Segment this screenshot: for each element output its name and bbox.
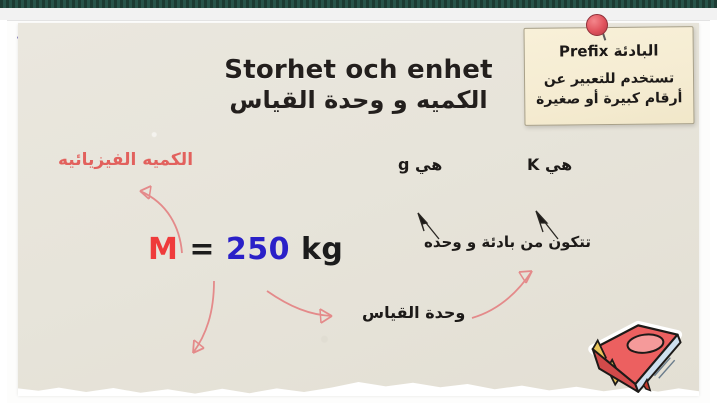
- label-hi-g: هي g: [398, 155, 442, 174]
- window-chrome-strip: [0, 0, 717, 8]
- book-sticker: [580, 318, 690, 396]
- book-icon: [580, 318, 690, 396]
- equation-unit: kg: [301, 232, 343, 267]
- sticky-note-prefix[interactable]: البادئة Prefix تستخدم للتعبير عن أرقام ك…: [523, 26, 694, 126]
- pushpin-head: [586, 14, 608, 36]
- label-hi-k: هي K: [527, 155, 572, 174]
- arrow-to-unit: [267, 291, 332, 323]
- equation-mass: M = 250 kg: [148, 232, 343, 267]
- slide-screen: Storhet och enhet الكميه و وحدة القياس ا…: [0, 0, 717, 415]
- page-margin-bottom: [0, 403, 717, 415]
- equation-symbol: M: [148, 232, 178, 267]
- window-toolbar-strip: [0, 8, 717, 21]
- note-title: البادئة Prefix: [525, 41, 693, 61]
- equation-operator: =: [189, 232, 215, 267]
- label-unit-of-measure: وحدة القياس: [362, 303, 465, 322]
- equation-value: 250: [226, 232, 290, 267]
- arrow-to-amount: [193, 281, 214, 353]
- label-physical-quantity: الكميه الفيزيائيه: [58, 150, 193, 170]
- arrow-to-composed-of: [472, 271, 532, 318]
- label-composed-of: تتكون من بادئة و وحده: [424, 233, 591, 251]
- note-body: تستخدم للتعبير عن أرقام كبيرة أو صغيرة: [525, 68, 693, 110]
